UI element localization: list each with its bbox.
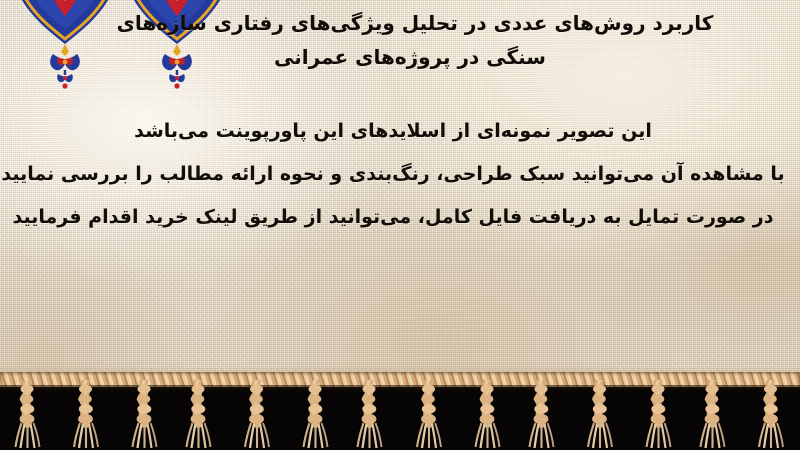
fringe-tassel <box>356 380 386 448</box>
fringe-tassel <box>642 380 672 448</box>
body-line-3: در صورت تمایل به دریافت فایل کامل، می‌تو… <box>0 196 786 239</box>
body-line-1: این تصویر نمونه‌ای از اسلایدهای این پاور… <box>0 110 786 153</box>
fringe-tassel <box>71 380 101 448</box>
fringe-tassel <box>471 380 501 448</box>
fringe-cord-shadow <box>0 385 800 392</box>
fringe-tassel <box>756 380 786 448</box>
presentation-slide: کاربرد روش‌های عددی در تحلیل ویژگی‌های ر… <box>0 0 800 450</box>
fringe-tassel <box>699 380 729 448</box>
fringe-tassel <box>528 380 558 448</box>
slide-title-line-1: کاربرد روش‌های عددی در تحلیل ویژگی‌های ر… <box>0 6 790 40</box>
fringe-tassel <box>128 380 158 448</box>
slide-body-text: این تصویر نمونه‌ای از اسلایدهای این پاور… <box>0 110 786 239</box>
carpet-tassel-fringe <box>0 372 800 450</box>
slide-title-line-2: سنگی در پروژه‌های عمرانی <box>0 40 790 74</box>
slide-title: کاربرد روش‌های عددی در تحلیل ویژگی‌های ر… <box>0 6 790 74</box>
fringe-tassel <box>414 380 444 448</box>
body-line-2: با مشاهده آن می‌توانید سبک طراحی، رنگ‌بن… <box>0 153 786 196</box>
fringe-tassel <box>299 380 329 448</box>
fringe-tassel <box>585 380 615 448</box>
fringe-tassel <box>14 380 44 448</box>
fringe-tassel <box>242 380 272 448</box>
fringe-tassel <box>185 380 215 448</box>
